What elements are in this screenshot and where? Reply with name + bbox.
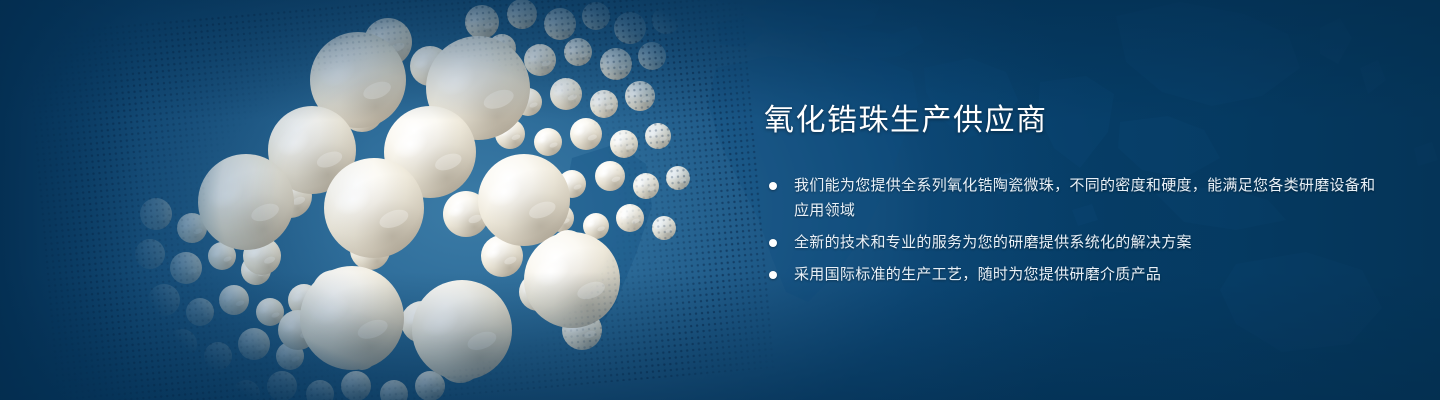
list-item-text: 全新的技术和专业的服务为您的研磨提供系统化的解决方案 bbox=[794, 230, 1384, 255]
banner-feature-list: 我们能为您提供全系列氧化锆陶瓷微珠，不同的密度和硬度，能满足您各类研磨设备和应用… bbox=[764, 173, 1384, 287]
list-item-text: 采用国际标准的生产工艺，随时为您提供研磨介质产品 bbox=[794, 262, 1384, 287]
hero-banner: 氧化锆珠生产供应商 我们能为您提供全系列氧化锆陶瓷微珠，不同的密度和硬度，能满足… bbox=[0, 0, 1440, 400]
banner-headline: 氧化锆珠生产供应商 bbox=[764, 104, 1384, 137]
list-item: 采用国际标准的生产工艺，随时为您提供研磨介质产品 bbox=[764, 262, 1384, 287]
list-item: 全新的技术和专业的服务为您的研磨提供系统化的解决方案 bbox=[764, 230, 1384, 255]
list-item-text: 我们能为您提供全系列氧化锆陶瓷微珠，不同的密度和硬度，能满足您各类研磨设备和应用… bbox=[794, 173, 1384, 223]
bullet-dot-icon bbox=[769, 271, 777, 279]
bullet-dot-icon bbox=[769, 239, 777, 247]
list-item: 我们能为您提供全系列氧化锆陶瓷微珠，不同的密度和硬度，能满足您各类研磨设备和应用… bbox=[764, 173, 1384, 223]
banner-copy-block: 氧化锆珠生产供应商 我们能为您提供全系列氧化锆陶瓷微珠，不同的密度和硬度，能满足… bbox=[764, 104, 1384, 287]
bullet-dot-icon bbox=[769, 182, 777, 190]
